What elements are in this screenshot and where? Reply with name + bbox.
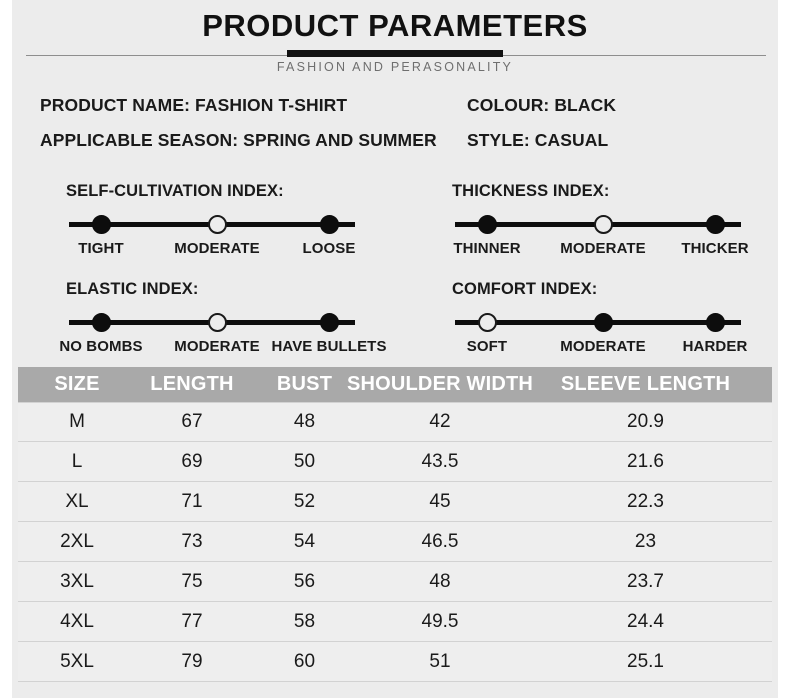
comfort-dot-harder[interactable] [706,313,725,332]
cell-size: L [18,442,136,481]
thickness-label-0: THINNER [453,240,520,257]
cell-shoulder: 48 [361,562,519,601]
cell-size: M [18,403,136,441]
cell-length: 73 [136,522,248,561]
elastic-dot-have-bullets[interactable] [320,313,339,332]
elastic-index-title: ELASTIC INDEX: [66,280,396,299]
size-table-header-row: SIZE LENGTH BUST SHOULDER WIDTH SLEEVE L… [18,367,772,402]
cell-bust: 56 [248,562,361,601]
cell-shoulder: 43.5 [361,442,519,481]
page-subtitle: FASHION AND PERASONALITY [12,60,778,74]
comfort-dot-moderate[interactable] [594,313,613,332]
table-row: 5XL 79 60 51 25.1 [18,642,772,682]
product-colour-text: COLOUR: BLACK [467,95,616,116]
cell-bust: 50 [248,442,361,481]
cell-size: 3XL [18,562,136,601]
table-row: M 67 48 42 20.9 [18,402,772,442]
thickness-label-1: MODERATE [560,240,646,257]
column-header-length: LENGTH [136,367,248,402]
cell-length: 77 [136,602,248,641]
cell-bust: 48 [248,403,361,441]
cell-size: 2XL [18,522,136,561]
self-cultivation-label-2: LOOSE [302,240,355,257]
cell-sleeve: 21.6 [519,442,772,481]
cell-size: 5XL [18,642,136,681]
cell-bust: 58 [248,602,361,641]
cell-length: 69 [136,442,248,481]
column-header-bust: BUST [248,367,361,402]
product-parameters-page: PRODUCT PARAMETERS FASHION AND PERASONAL… [0,0,790,698]
product-season-text: APPLICABLE SEASON: SPRING AND SUMMER [40,130,437,151]
elastic-label-1: MODERATE [174,338,260,355]
elastic-index-track [66,307,396,337]
content-panel: PRODUCT PARAMETERS FASHION AND PERASONAL… [12,0,778,698]
self-cultivation-dot-loose[interactable] [320,215,339,234]
cell-shoulder: 42 [361,403,519,441]
elastic-label-2: HAVE BULLETS [271,338,386,355]
comfort-index-track [452,307,782,337]
column-header-size: SIZE [18,367,136,402]
cell-shoulder: 49.5 [361,602,519,641]
cell-length: 79 [136,642,248,681]
thickness-dot-thicker[interactable] [706,215,725,234]
title-underline-bar [287,50,503,57]
cell-size: 4XL [18,602,136,641]
cell-sleeve: 23 [519,522,772,561]
thickness-index-labels: THINNER MODERATE THICKER [452,240,782,262]
elastic-index: ELASTIC INDEX: NO BOMBS MODERATE HAVE BU… [66,280,396,360]
elastic-index-labels: NO BOMBS MODERATE HAVE BULLETS [66,338,396,360]
cell-bust: 54 [248,522,361,561]
column-header-sleeve: SLEEVE LENGTH [519,367,772,402]
comfort-label-1: MODERATE [560,338,646,355]
self-cultivation-index-labels: TIGHT MODERATE LOOSE [66,240,396,262]
thickness-dot-thinner[interactable] [478,215,497,234]
table-row: 2XL 73 54 46.5 23 [18,522,772,562]
comfort-dot-soft-selected[interactable] [478,313,497,332]
elastic-label-0: NO BOMBS [59,338,142,355]
table-row: 3XL 75 56 48 23.7 [18,562,772,602]
cell-sleeve: 25.1 [519,642,772,681]
elastic-dot-moderate-selected[interactable] [208,313,227,332]
cell-shoulder: 51 [361,642,519,681]
self-cultivation-label-0: TIGHT [78,240,124,257]
cell-sleeve: 22.3 [519,482,772,521]
size-table: SIZE LENGTH BUST SHOULDER WIDTH SLEEVE L… [18,367,772,682]
cell-size: XL [18,482,136,521]
comfort-index-title: COMFORT INDEX: [452,280,782,299]
thickness-dot-moderate-selected[interactable] [594,215,613,234]
product-name-text: PRODUCT NAME: FASHION T-SHIRT [40,95,347,116]
cell-shoulder: 46.5 [361,522,519,561]
thickness-index: THICKNESS INDEX: THINNER MODERATE THICKE… [452,182,782,262]
comfort-index-labels: SOFT MODERATE HARDER [452,338,782,360]
cell-sleeve: 24.4 [519,602,772,641]
self-cultivation-index-track [66,209,396,239]
page-title: PRODUCT PARAMETERS [12,8,778,44]
thickness-index-title: THICKNESS INDEX: [452,182,782,201]
self-cultivation-index-title: SELF-CULTIVATION INDEX: [66,182,396,201]
thickness-label-2: THICKER [681,240,748,257]
cell-length: 75 [136,562,248,601]
comfort-index: COMFORT INDEX: SOFT MODERATE HARDER [452,280,782,360]
cell-bust: 60 [248,642,361,681]
self-cultivation-dot-tight[interactable] [92,215,111,234]
self-cultivation-index: SELF-CULTIVATION INDEX: TIGHT MODERATE L… [66,182,396,262]
self-cultivation-dot-moderate-selected[interactable] [208,215,227,234]
product-style-text: STYLE: CASUAL [467,130,608,151]
comfort-label-2: HARDER [683,338,748,355]
thickness-index-track [452,209,782,239]
cell-length: 71 [136,482,248,521]
self-cultivation-label-1: MODERATE [174,240,260,257]
comfort-label-0: SOFT [467,338,507,355]
table-row: L 69 50 43.5 21.6 [18,442,772,482]
table-row: XL 71 52 45 22.3 [18,482,772,522]
cell-shoulder: 45 [361,482,519,521]
table-row: 4XL 77 58 49.5 24.4 [18,602,772,642]
cell-bust: 52 [248,482,361,521]
cell-length: 67 [136,403,248,441]
cell-sleeve: 20.9 [519,403,772,441]
cell-sleeve: 23.7 [519,562,772,601]
elastic-dot-no-bombs[interactable] [92,313,111,332]
column-header-shoulder: SHOULDER WIDTH [361,367,519,402]
